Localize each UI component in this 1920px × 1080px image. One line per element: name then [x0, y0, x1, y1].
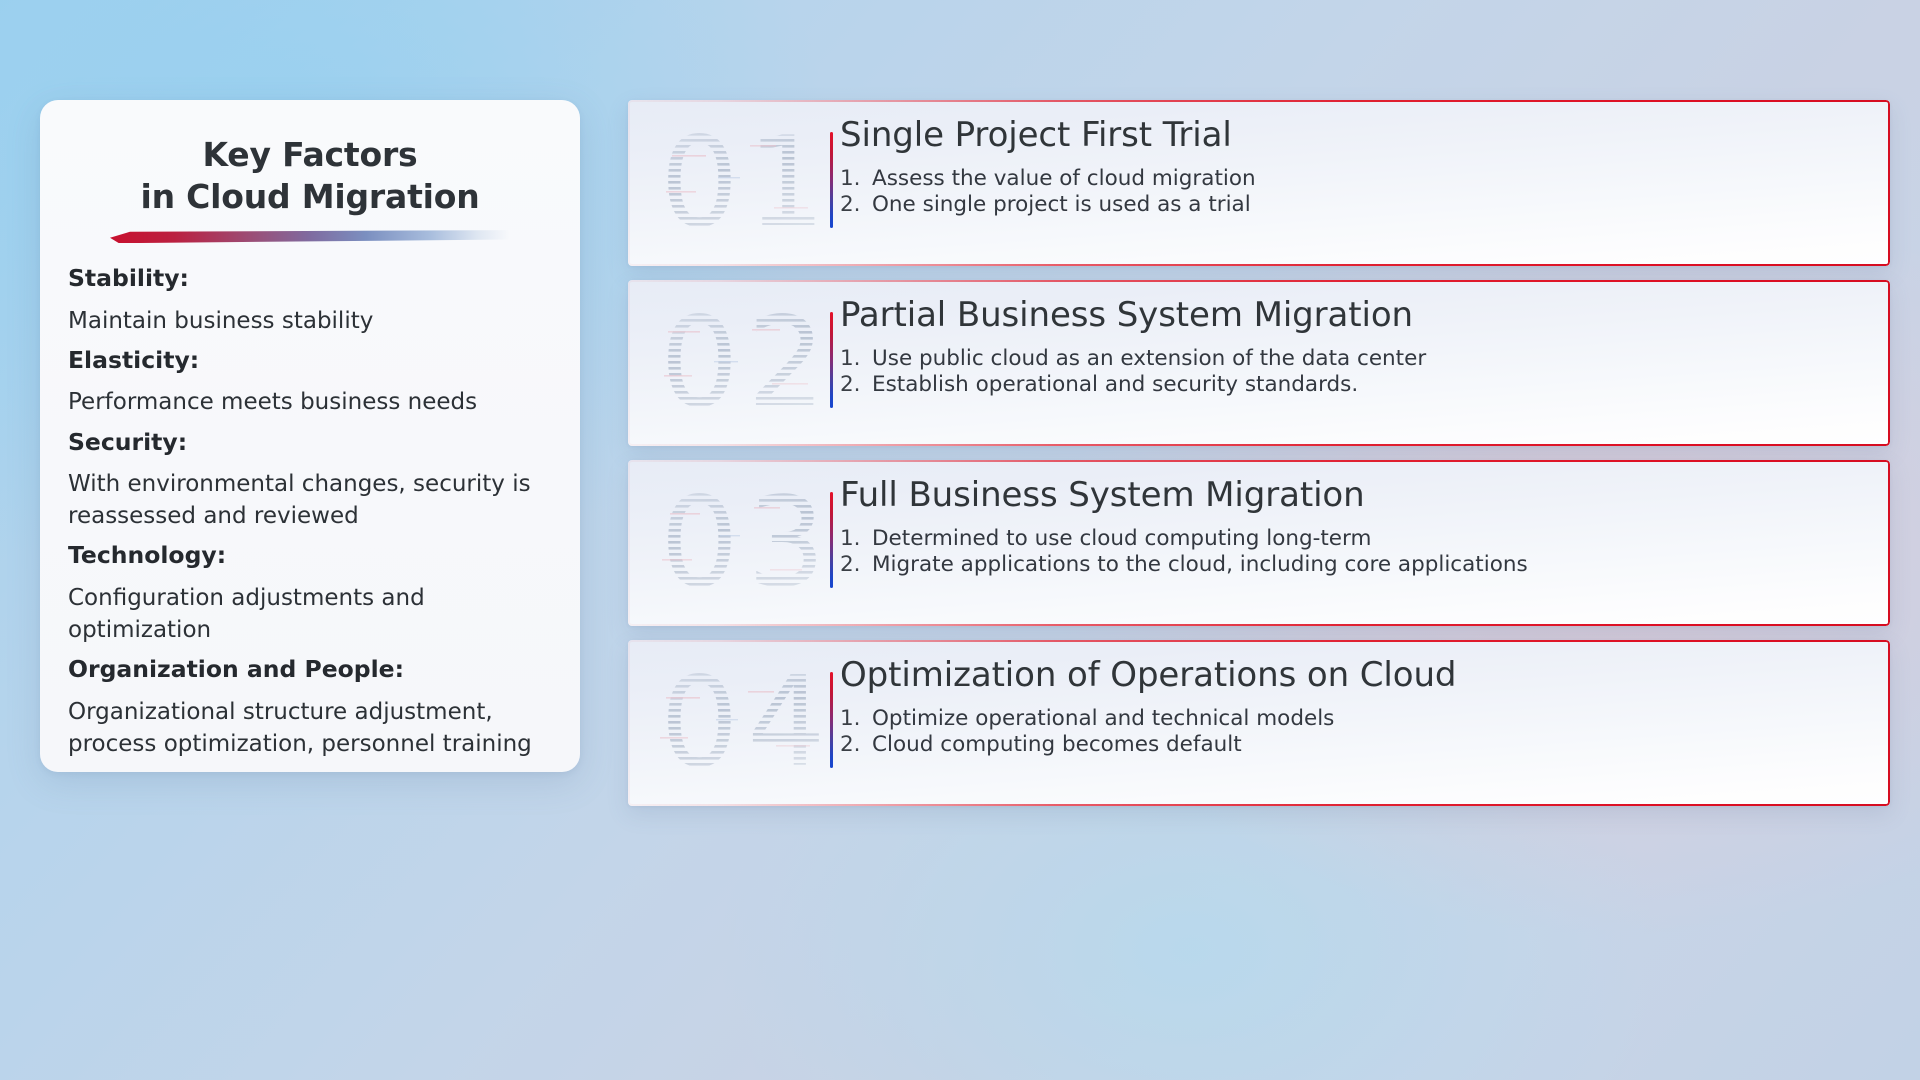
- list-item-index: 1.: [840, 166, 872, 192]
- list-item-index: 1.: [840, 706, 872, 732]
- list-item-index: 1.: [840, 526, 872, 552]
- list-item: 1. Optimize operational and technical mo…: [840, 706, 1874, 732]
- stage-number-01: 01: [654, 121, 869, 245]
- list-item-text: Assess the value of cloud migration: [872, 166, 1256, 192]
- card-title: Optimization of Operations on Cloud: [840, 656, 1874, 694]
- factor-label: Organization and People:: [68, 658, 554, 682]
- list-item-index: 2.: [840, 552, 872, 578]
- stage-card[interactable]: 03 Full Business System Migration 1. Det…: [628, 460, 1890, 626]
- list-item-text: Cloud computing becomes default: [872, 732, 1242, 758]
- factor-text: With environmental changes, security is …: [68, 468, 554, 532]
- factor-item: Elasticity: Performance meets business n…: [68, 349, 554, 419]
- card-bullet-list: 1. Assess the value of cloud migration 2…: [840, 166, 1874, 218]
- card-bullet-list: 1. Optimize operational and technical mo…: [840, 706, 1874, 758]
- stage-number-03: 03: [654, 481, 869, 605]
- slide-canvas: Key Factors in Cloud Migration Stability…: [0, 0, 1920, 1080]
- card-accent-bar: [830, 132, 833, 228]
- list-item-text: Migrate applications to the cloud, inclu…: [872, 552, 1528, 578]
- card-bullet-list: 1. Use public cloud as an extension of t…: [840, 346, 1874, 398]
- card-accent-bar: [830, 312, 833, 408]
- list-item-text: Establish operational and security stand…: [872, 372, 1358, 398]
- card-content: Full Business System Migration 1. Determ…: [840, 460, 1874, 626]
- list-item: 2. Cloud computing becomes default: [840, 732, 1874, 758]
- factor-label: Elasticity:: [68, 349, 554, 373]
- factor-text: Configuration adjustments and optimizati…: [68, 582, 554, 646]
- factors-list: Stability: Maintain business stability E…: [66, 267, 554, 760]
- list-item-index: 2.: [840, 192, 872, 218]
- list-item-text: Use public cloud as an extension of the …: [872, 346, 1426, 372]
- list-item: 1. Assess the value of cloud migration: [840, 166, 1874, 192]
- factor-label: Stability:: [68, 267, 554, 291]
- page-title: Key Factors in Cloud Migration: [66, 134, 554, 217]
- stage-card[interactable]: 02 Partial Business System Migration 1. …: [628, 280, 1890, 446]
- page-title-line-1: Key Factors: [70, 134, 550, 176]
- stage-card[interactable]: 04 Optimization of Operations on Cloud 1…: [628, 640, 1890, 806]
- list-item-index: 2.: [840, 372, 872, 398]
- factor-item: Security: With environmental changes, se…: [68, 431, 554, 533]
- title-underline-wedge: [110, 230, 510, 243]
- stage-number-04: 04: [654, 661, 869, 785]
- list-item: 1. Determined to use cloud computing lon…: [840, 526, 1874, 552]
- factor-label: Security:: [68, 431, 554, 455]
- key-factors-panel: Key Factors in Cloud Migration Stability…: [40, 100, 580, 772]
- factor-label: Technology:: [68, 544, 554, 568]
- stage-number-02: 02: [654, 301, 869, 425]
- list-item-index: 1.: [840, 346, 872, 372]
- stage-number-glyph: 01: [660, 121, 834, 245]
- page-title-line-2: in Cloud Migration: [70, 176, 550, 218]
- stage-number-glyph: 03: [660, 481, 834, 605]
- card-bullet-list: 1. Determined to use cloud computing lon…: [840, 526, 1874, 578]
- stage-card[interactable]: 01 Single Project First Trial 1. Assess …: [628, 100, 1890, 266]
- title-underline-gradient: [110, 230, 510, 243]
- list-item: 1. Use public cloud as an extension of t…: [840, 346, 1874, 372]
- list-item-index: 2.: [840, 732, 872, 758]
- stage-number-glyph: 04: [660, 661, 834, 785]
- card-title: Partial Business System Migration: [840, 296, 1874, 334]
- card-content: Single Project First Trial 1. Assess the…: [840, 100, 1874, 266]
- stage-number-glyph: 02: [660, 301, 834, 425]
- card-title: Full Business System Migration: [840, 476, 1874, 514]
- factor-item: Stability: Maintain business stability: [68, 267, 554, 337]
- card-accent-bar: [830, 672, 833, 768]
- factor-text: Performance meets business needs: [68, 386, 554, 418]
- list-item: 2. Establish operational and security st…: [840, 372, 1874, 398]
- factor-item: Technology: Configuration adjustments an…: [68, 544, 554, 646]
- factor-item: Organization and People: Organizational …: [68, 658, 554, 760]
- list-item: 2. One single project is used as a trial: [840, 192, 1874, 218]
- list-item-text: One single project is used as a trial: [872, 192, 1251, 218]
- card-content: Optimization of Operations on Cloud 1. O…: [840, 640, 1874, 806]
- card-accent-bar: [830, 492, 833, 588]
- factor-text: Maintain business stability: [68, 305, 554, 337]
- list-item-text: Determined to use cloud computing long-t…: [872, 526, 1371, 552]
- factor-text: Organizational structure adjustment, pro…: [68, 696, 554, 760]
- list-item: 2. Migrate applications to the cloud, in…: [840, 552, 1874, 578]
- card-title: Single Project First Trial: [840, 116, 1874, 154]
- list-item-text: Optimize operational and technical model…: [872, 706, 1334, 732]
- migration-stage-cards: 01 Single Project First Trial 1. Assess …: [628, 100, 1890, 980]
- card-content: Partial Business System Migration 1. Use…: [840, 280, 1874, 446]
